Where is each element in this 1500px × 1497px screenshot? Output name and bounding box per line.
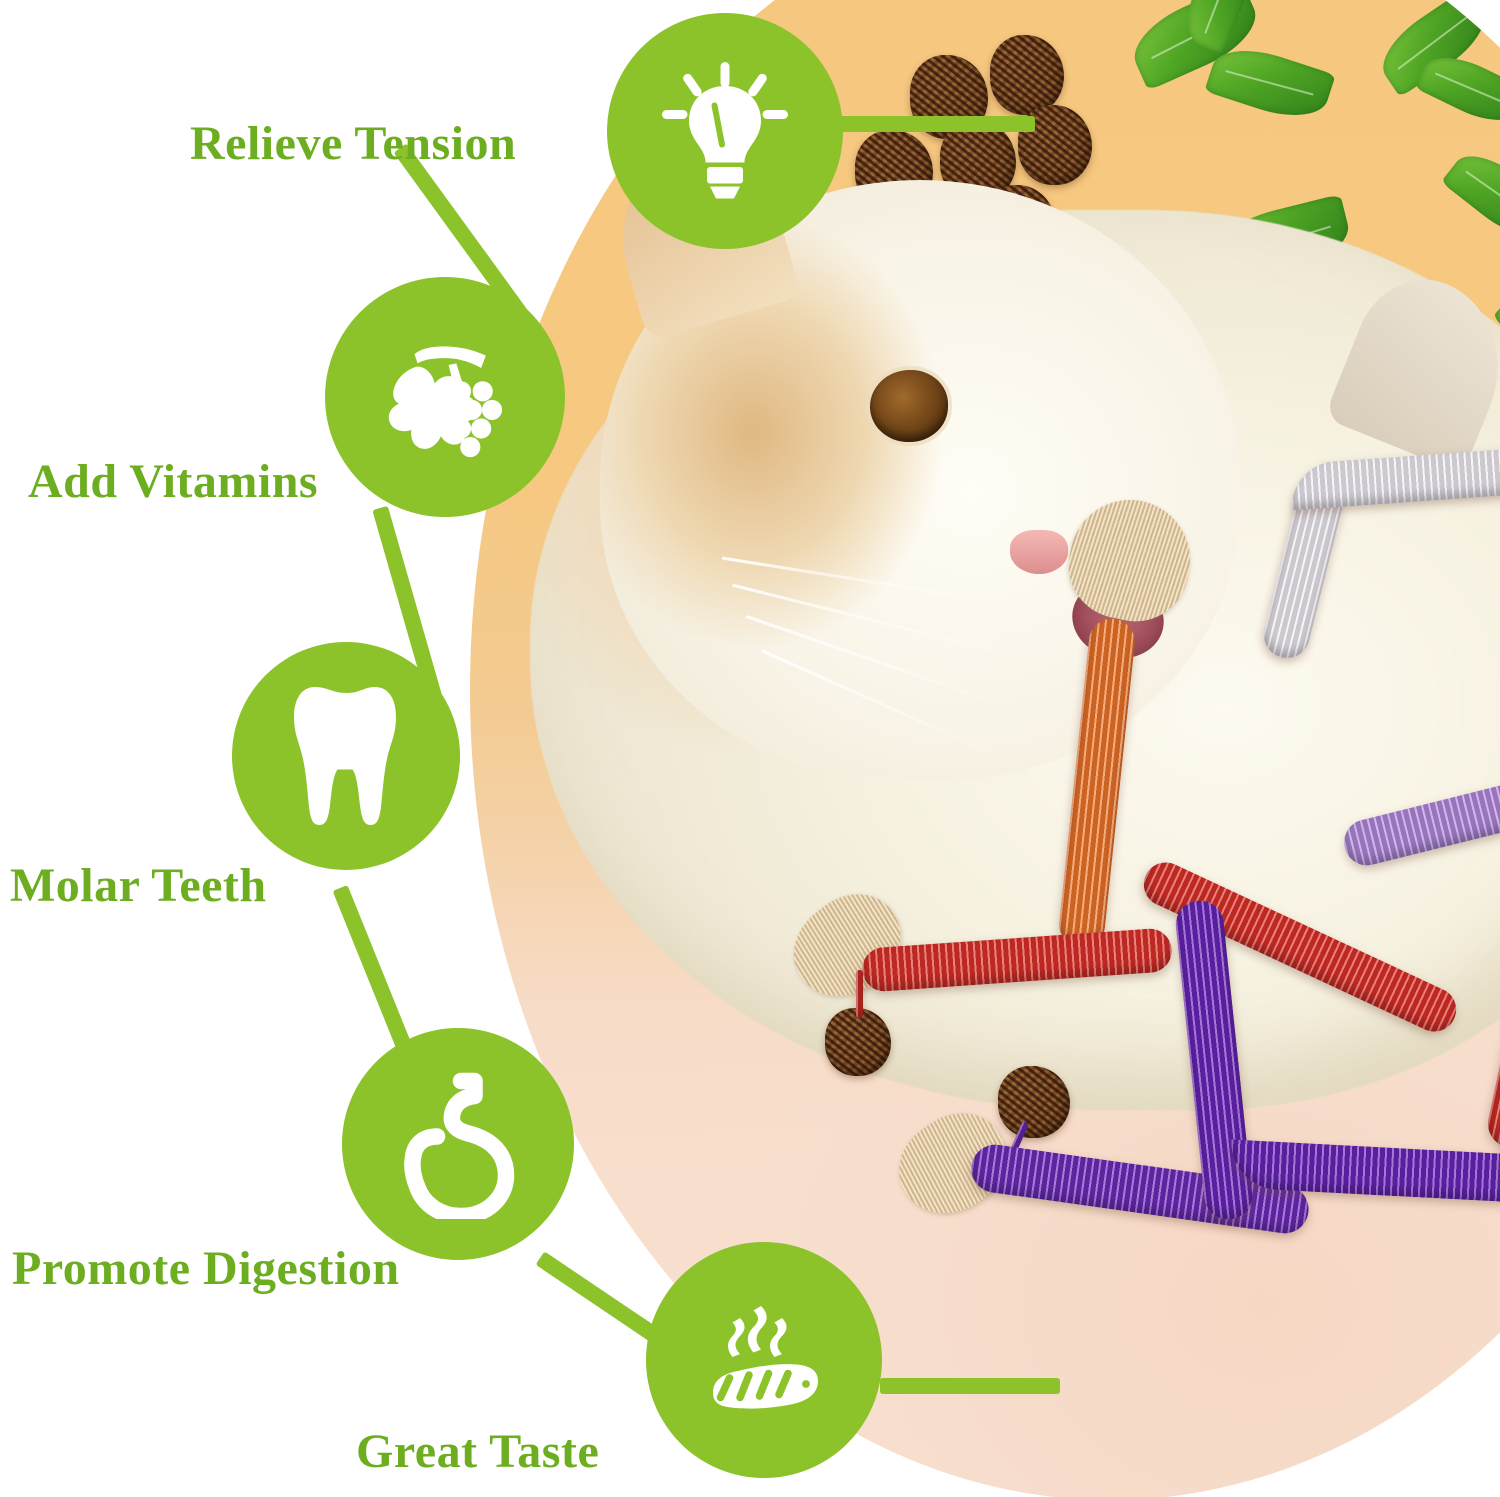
stomach-icon	[388, 1069, 528, 1219]
connector-bulb-to-photo	[835, 116, 1035, 132]
benefit-circle-molar-teeth[interactable]	[232, 642, 460, 870]
infographic-canvas: Relieve Tension	[0, 0, 1500, 1497]
lightbulb-icon	[650, 56, 800, 206]
grapes-leaf-icon	[368, 320, 523, 475]
tooth-icon	[279, 681, 414, 831]
benefit-circle-relieve-tension[interactable]	[607, 13, 843, 249]
benefit-circle-promote-digestion[interactable]	[342, 1028, 574, 1260]
benefit-label-add-vitamins: Add Vitamins	[28, 458, 318, 506]
benefit-label-molar-teeth: Molar Teeth	[10, 862, 267, 910]
benefit-label-relieve-tension: Relieve Tension	[190, 120, 516, 168]
benefit-circle-great-taste[interactable]	[646, 1242, 882, 1478]
connector-taste-to-photo	[880, 1378, 1060, 1394]
benefit-circle-add-vitamins[interactable]	[325, 277, 565, 517]
benefit-label-promote-digestion: Promote Digestion	[12, 1245, 400, 1293]
benefit-label-great-taste: Great Taste	[356, 1428, 599, 1476]
grilled-food-steam-icon	[689, 1285, 839, 1435]
benefit-chain: Relieve Tension	[0, 0, 1500, 1497]
